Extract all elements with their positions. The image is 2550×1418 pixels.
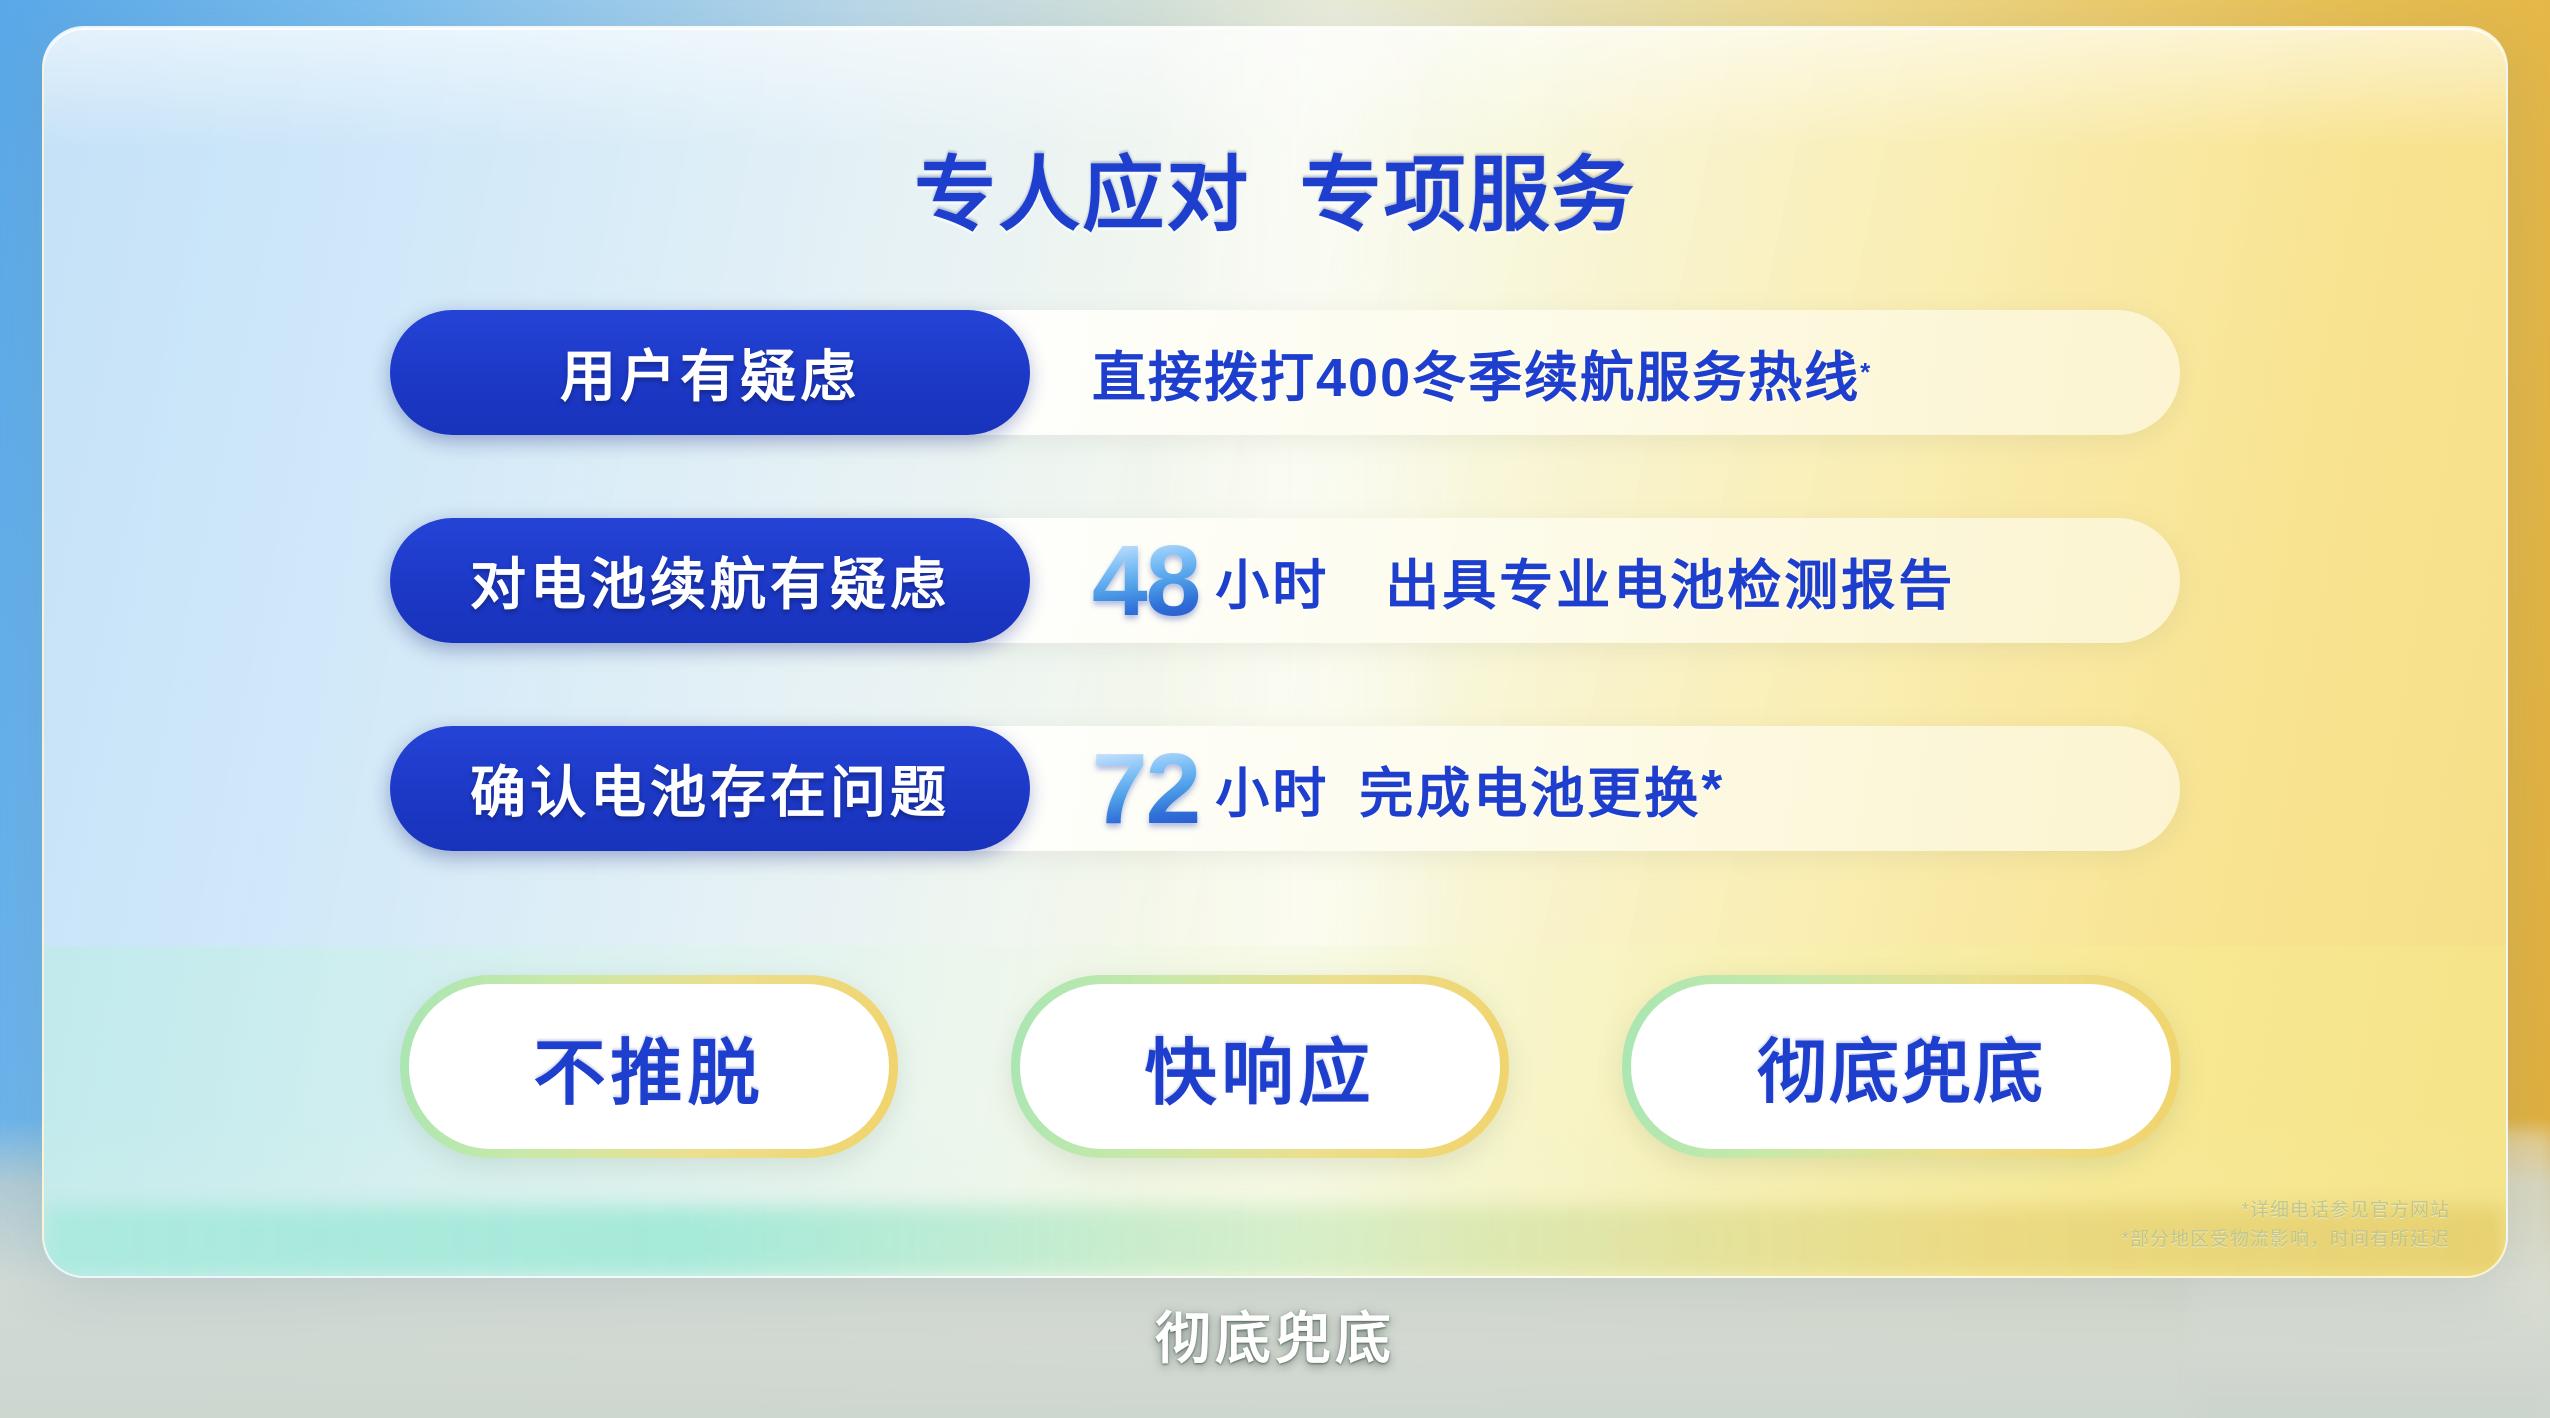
promise-badge: 彻底兜底 <box>1622 975 2180 1158</box>
step-duration-number: 48 <box>1092 531 1215 631</box>
step-condition-pill: 确认电池存在问题 <box>390 726 1030 851</box>
step-condition-pill: 对电池续航有疑虑 <box>390 518 1030 643</box>
promo-slide: 专人应对 专项服务 用户有疑虑 直接拨打400冬季续航服务热线* 对电池续航有疑… <box>0 0 2550 1418</box>
footnote-line: *部分地区受物流影响，时间有所延迟 <box>2122 1225 2450 1254</box>
promise-badge: 快响应 <box>1011 975 1509 1158</box>
step-hotline-text: 直接拨打400冬季续航服务热线 <box>1092 333 1860 412</box>
promise-badge-label: 彻底兜底 <box>1631 984 2171 1149</box>
service-step-row: 用户有疑虑 直接拨打400冬季续航服务热线* <box>390 310 2180 435</box>
step-detail: 72小时完成电池更换* <box>1030 739 2180 839</box>
step-action-text: 完成电池更换 <box>1359 749 1701 828</box>
step-condition-pill: 用户有疑虑 <box>390 310 1030 435</box>
step-duration-unit: 小时 <box>1215 749 1329 828</box>
footnote-marker: * <box>1701 758 1725 820</box>
footnote-line: *详细电话参见官方网站 <box>2122 1196 2450 1225</box>
promise-badge-label: 快响应 <box>1020 984 1500 1149</box>
step-action-text: 出具专业电池检测报告 <box>1385 541 1955 620</box>
promise-badge-group: 不推脱 快响应 彻底兜底 <box>400 975 2180 1158</box>
promise-badge-label: 不推脱 <box>409 984 889 1149</box>
service-steps-list: 用户有疑虑 直接拨打400冬季续航服务热线* 对电池续航有疑虑 48小时出具专业… <box>390 310 2180 934</box>
page-title: 专人应对 专项服务 <box>0 128 2550 247</box>
footnote-marker: * <box>1860 357 1872 388</box>
step-condition-label: 对电池续航有疑虑 <box>470 540 950 621</box>
footnote-block: *详细电话参见官方网站 *部分地区受物流影响，时间有所延迟 <box>2122 1196 2450 1255</box>
step-condition-label: 确认电池存在问题 <box>470 748 950 829</box>
service-step-row: 对电池续航有疑虑 48小时出具专业电池检测报告 <box>390 518 2180 643</box>
step-duration-unit: 小时 <box>1215 541 1329 620</box>
service-step-row: 确认电池存在问题 72小时完成电池更换* <box>390 726 2180 851</box>
step-duration-number: 72 <box>1092 739 1215 839</box>
promise-badge: 不推脱 <box>400 975 898 1158</box>
video-caption: 彻底兜底 <box>0 1294 2550 1375</box>
step-detail: 48小时出具专业电池检测报告 <box>1030 531 2180 631</box>
step-detail: 直接拨打400冬季续航服务热线* <box>1030 333 2180 412</box>
step-condition-label: 用户有疑虑 <box>560 332 860 413</box>
